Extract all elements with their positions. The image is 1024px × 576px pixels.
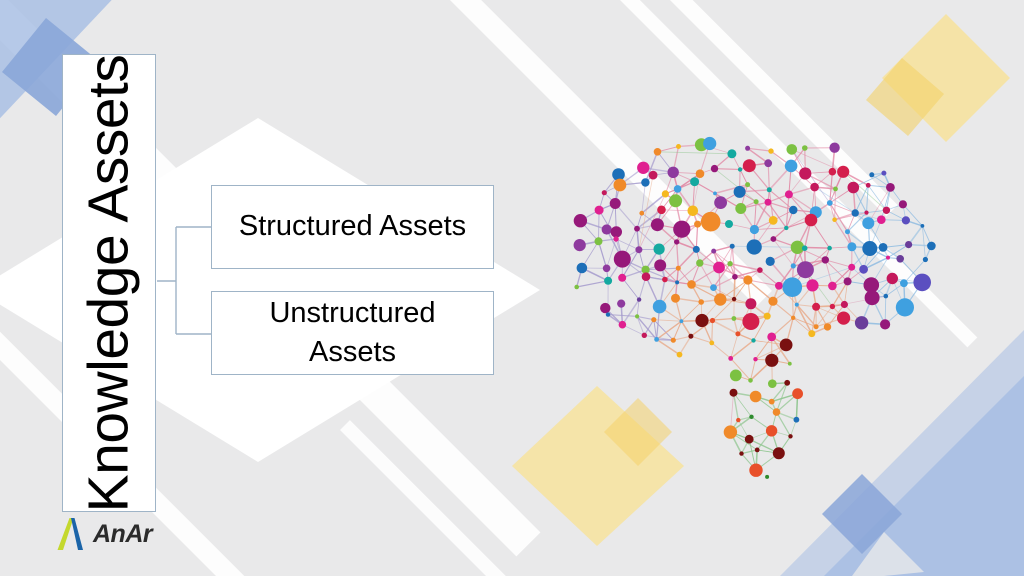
- diagram-node-structured-assets-label: Structured Assets: [239, 207, 466, 246]
- brain-network-nodes: [574, 137, 936, 479]
- anar-logo[interactable]: AnAr: [52, 514, 182, 554]
- brain-network-graphic: [556, 104, 956, 484]
- title-box: Knowledge Assets: [62, 54, 156, 512]
- diagram-node-unstructured-assets-label: Unstructured Assets: [224, 294, 481, 372]
- slide-canvas: Knowledge Assets Structured Assets Unstr…: [0, 0, 1024, 576]
- diagram-node-structured-assets[interactable]: Structured Assets: [211, 185, 494, 269]
- lambda-logo-icon: [52, 517, 92, 551]
- page-title: Knowledge Assets: [81, 54, 138, 512]
- anar-logo-text: AnAr: [93, 520, 152, 549]
- diagram-node-unstructured-assets[interactable]: Unstructured Assets: [211, 291, 494, 375]
